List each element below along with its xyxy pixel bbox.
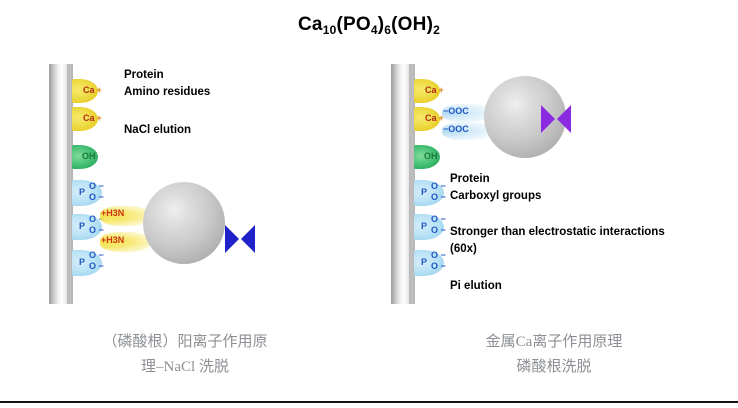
ligand-phosphate-3-o1: O − [89,251,104,260]
caption-left-line2: 理–NaCl 洗脱 [20,355,350,380]
caption-right-line1: 金属Ca离子作用原理 [389,330,719,355]
panel-right: Ca+ Ca+ OH P O − O − P O − O [369,0,738,408]
caption-right: 金属Ca离子作用原理 磷酸根洗脱 [389,330,719,380]
ligand-phosphate-1-o2: O − [431,193,446,202]
ligand-phosphate-1-o1: O − [431,182,446,191]
figure-canvas: Ca10(PO4)6(OH)2 Ca+ Ca+ OH P O − O − [0,0,738,408]
ligand-calcium-2-label: Ca+ [83,114,102,123]
ligand-calcium-2-label: Ca+ [425,114,444,123]
interaction-label-2: −OOC [443,125,469,134]
annotation-protein: Protein [124,68,164,83]
bowtie-marker [540,104,572,134]
ligand-phosphate-1-o1: O − [89,182,104,191]
bowtie-marker [224,224,256,254]
caption-left-line1: （磷酸根）阳离子作用原 [20,330,350,355]
ligand-phosphate-3-p: P [79,258,85,267]
interaction-label-1: +H3N [101,209,124,218]
annotation-amino-residues: Amino residues [124,85,210,100]
caption-left: （磷酸根）阳离子作用原 理–NaCl 洗脱 [20,330,350,380]
annotation-pi-elution: Pi elution [450,279,502,294]
ligand-phosphate-3-o1: O − [431,251,446,260]
bottom-divider [0,401,738,403]
panel-left: Ca+ Ca+ OH P O − O − P O − O [0,0,369,408]
ligand-phosphate-2-p: P [79,222,85,231]
ligand-phosphate-3-o2: O − [431,262,446,271]
ligand-calcium-1-label: Ca+ [83,86,102,95]
ligand-hydroxyl-label: OH [424,152,438,161]
annotation-carboxyl-groups: Carboxyl groups [450,189,541,204]
ligand-phosphate-1-o2: O − [89,193,104,202]
ligand-phosphate-3-p: P [421,258,427,267]
interaction-label-1: −OOC [443,107,469,116]
annotation-nacl-elution: NaCl elution [124,123,191,138]
ligand-phosphate-2-o2: O − [89,226,104,235]
ligand-calcium-1-label: Ca+ [425,86,444,95]
annotation-protein: Protein [450,172,490,187]
ligand-phosphate-1-p: P [421,188,427,197]
protein-sphere [143,182,225,264]
annotation-60x: (60x) [450,242,477,257]
ligand-phosphate-2-p: P [421,222,427,231]
ligand-phosphate-3-o2: O − [89,262,104,271]
annotation-stronger-interactions: Stronger than electrostatic interactions [450,225,665,240]
caption-right-line2: 磷酸根洗脱 [389,355,719,380]
ligand-phosphate-2-o2: O − [431,226,446,235]
ligand-phosphate-2-o1: O − [431,215,446,224]
ligand-hydroxyl-label: OH [82,152,96,161]
interaction-label-2: +H3N [101,236,124,245]
bowtie-icon [540,104,572,134]
ligand-phosphate-1-p: P [79,188,85,197]
bowtie-icon [224,224,256,254]
